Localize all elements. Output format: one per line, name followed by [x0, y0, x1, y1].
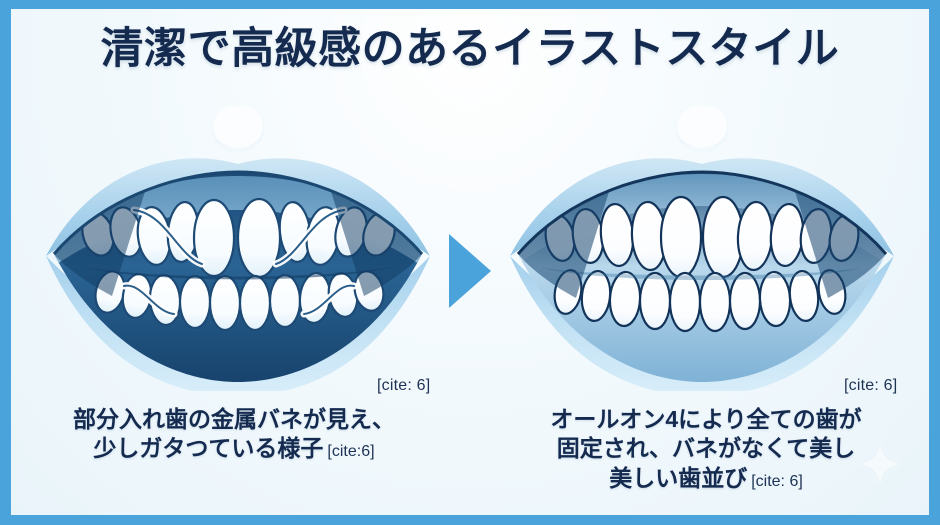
mouth-with-partial-denture-clasps-illustration	[38, 106, 438, 391]
caption-before-line2-text: 少しガタつている様子	[93, 435, 323, 461]
caption-before-cite: [cite:6]	[327, 443, 374, 460]
triangle-right-icon	[449, 234, 491, 308]
page-title: 清潔で高級感のあるイラストスタイル	[11, 27, 929, 72]
cite-badge-before: [cite: 6]	[377, 377, 430, 395]
cite-badge-after: [cite: 6]	[844, 377, 897, 395]
caption-before-line2: 少しガタつている様子[cite:6]	[19, 434, 449, 463]
comparison-panels	[11, 104, 929, 404]
slide-frame: 清潔で高級感のあるイラストスタイル	[0, 0, 940, 525]
panel-before	[23, 104, 453, 404]
caption-before-line1: 部分入れ歯の金属バネが見え、	[19, 405, 449, 434]
caption-after-line1: オールオン4により全ての歯が	[491, 405, 921, 434]
caption-before: 部分入れ歯の金属バネが見え、 少しガタつている様子[cite:6]	[19, 405, 449, 464]
caption-after-cite: [cite: 6]	[751, 473, 803, 490]
mouth-with-all-on-4-even-teeth-illustration	[502, 106, 902, 391]
slide-canvas: 清潔で高級感のあるイラストスタイル	[11, 9, 929, 515]
caption-after-line3-text: 美しい歯並び	[609, 465, 747, 491]
sparkle-icon	[857, 441, 903, 487]
panel-after	[487, 104, 917, 404]
